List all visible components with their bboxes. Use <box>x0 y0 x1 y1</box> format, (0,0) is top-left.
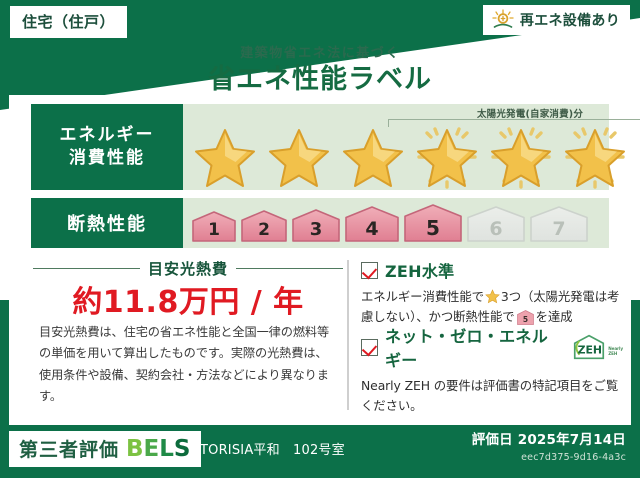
utility-cost-heading: 目安光熱費 <box>33 258 343 279</box>
insulation-chip: 1 <box>191 210 237 243</box>
zeh-level-block: ZEH水準 エネルギー消費性能で3つ（太陽光発電は考慮しない）、かつ断熱性能で5… <box>361 258 623 331</box>
insulation-rating-area: 1 2 3 4 5 6 <box>183 198 609 248</box>
insulation-chip-value: 3 <box>310 219 323 240</box>
main-card: エネルギー 消費性能 太陽光発電(自家消費)分 <box>9 95 631 425</box>
energy-performance-row: エネルギー 消費性能 太陽光発電(自家消費)分 <box>31 104 609 190</box>
energy-performance-label: エネルギー 消費性能 <box>31 104 183 190</box>
zeh-text-before: エネルギー消費性能で <box>361 289 484 304</box>
bels-letter: S <box>174 436 191 462</box>
zeh-logo: ZEH Nearly ZEH <box>572 334 623 360</box>
energy-label-line-1: エネルギー <box>60 124 155 147</box>
evaluation-id: eec7d375-9d16-4a3c <box>521 452 626 463</box>
insulation-performance-label: 断熱性能 <box>31 198 183 248</box>
zeh-text-after: を達成 <box>536 309 573 324</box>
insulation-chip-value: 5 <box>426 216 440 240</box>
insulation-chip: 6 <box>466 205 526 243</box>
solar-star <box>559 124 631 190</box>
utility-cost-disclaimer: 目安光熱費は、住宅の省エネ性能と全国一律の燃料等の単価を用いて算出したものです。… <box>39 322 339 407</box>
insulation-chip: 2 <box>240 209 288 243</box>
utility-cost-value: 約11.8万円 / 年 <box>33 277 343 321</box>
bels-letter: B <box>126 436 144 462</box>
insulation-chip: 4 <box>344 205 400 243</box>
net-zero-description: Nearly ZEH の要件は評価書の特記項目をご覧ください。 <box>361 376 623 416</box>
base-star <box>189 124 261 190</box>
bels-letter: E <box>144 436 160 462</box>
energy-label-line-2: 消費性能 <box>69 147 145 170</box>
insulation-chip-value: 4 <box>365 218 378 240</box>
energy-star-rating <box>189 124 631 190</box>
third-party-evaluation-chip: 第三者評価 BELS <box>9 431 201 467</box>
insulation-chip-value: 7 <box>552 218 565 240</box>
column-divider <box>347 260 349 410</box>
insulation-chip: 7 <box>529 205 589 243</box>
insulation-chip-value: 6 <box>489 218 502 240</box>
zeh-level-header: ZEH水準 <box>361 258 623 282</box>
bels-letter: L <box>159 436 174 462</box>
base-star <box>263 124 335 190</box>
insulation-chip-value: 2 <box>258 220 270 240</box>
solar-sun-icon <box>491 9 515 31</box>
zeh-level-title: ZEH水準 <box>385 258 454 282</box>
insulation-chip-scale: 1 2 3 4 5 6 <box>191 203 589 243</box>
zeh-logo-text: ZEH <box>578 343 602 356</box>
renewable-equipment-badge: 再エネ設備あり <box>483 5 630 35</box>
property-name: TORISIA平和 102号室 <box>200 439 345 458</box>
solar-annotation-label: 太陽光発電(自家消費)分 <box>385 106 640 120</box>
net-zero-checkbox <box>361 339 378 356</box>
inline-star-icon <box>485 289 500 304</box>
solar-star <box>485 124 557 190</box>
renewable-badge-label: 再エネ設備あり <box>520 10 620 30</box>
solar-star <box>411 124 483 190</box>
evaluation-date: 評価日 2025年7月14日 <box>472 428 626 448</box>
heading-rule-right <box>236 268 343 270</box>
net-zero-header: ネット・ゼロ・エネルギー ZEH Nearly ZEH <box>361 323 623 371</box>
insulation-chip-value: 1 <box>208 220 220 240</box>
insulation-performance-row: 断熱性能 1 2 3 4 <box>31 198 609 248</box>
net-zero-title: ネット・ゼロ・エネルギー <box>385 323 561 371</box>
bels-energy-label: 住宅（住戸） 再エネ設備あり 建築物省エネ法に基づく 省エネ性能ラベル エネルギ… <box>0 0 640 478</box>
insulation-chip: 3 <box>291 208 341 243</box>
energy-rating-area: 太陽光発電(自家消費)分 <box>183 104 609 190</box>
zeh-text-stars: 3つ（太陽光発電 <box>501 289 595 304</box>
base-star <box>337 124 409 190</box>
heading-rule-left <box>33 268 140 270</box>
category-chip: 住宅（住戸） <box>10 6 127 38</box>
zeh-house-logo-icon: ZEH <box>572 334 606 360</box>
label-title: 省エネ性能ラベル <box>0 57 640 96</box>
zeh-logo-subtext: Nearly ZEH <box>608 347 623 360</box>
zeh-level-checkbox <box>361 262 378 279</box>
zeh-logo-sub-line-2: ZEH <box>608 351 617 356</box>
utility-cost-heading-label: 目安光熱費 <box>148 258 228 279</box>
net-zero-energy-block: ネット・ゼロ・エネルギー ZEH Nearly ZEH Nearly ZEH の… <box>361 323 623 416</box>
bels-logo: BELS <box>126 436 190 462</box>
insulation-chip: 5 <box>403 203 463 243</box>
third-party-label: 第三者評価 <box>19 435 119 462</box>
